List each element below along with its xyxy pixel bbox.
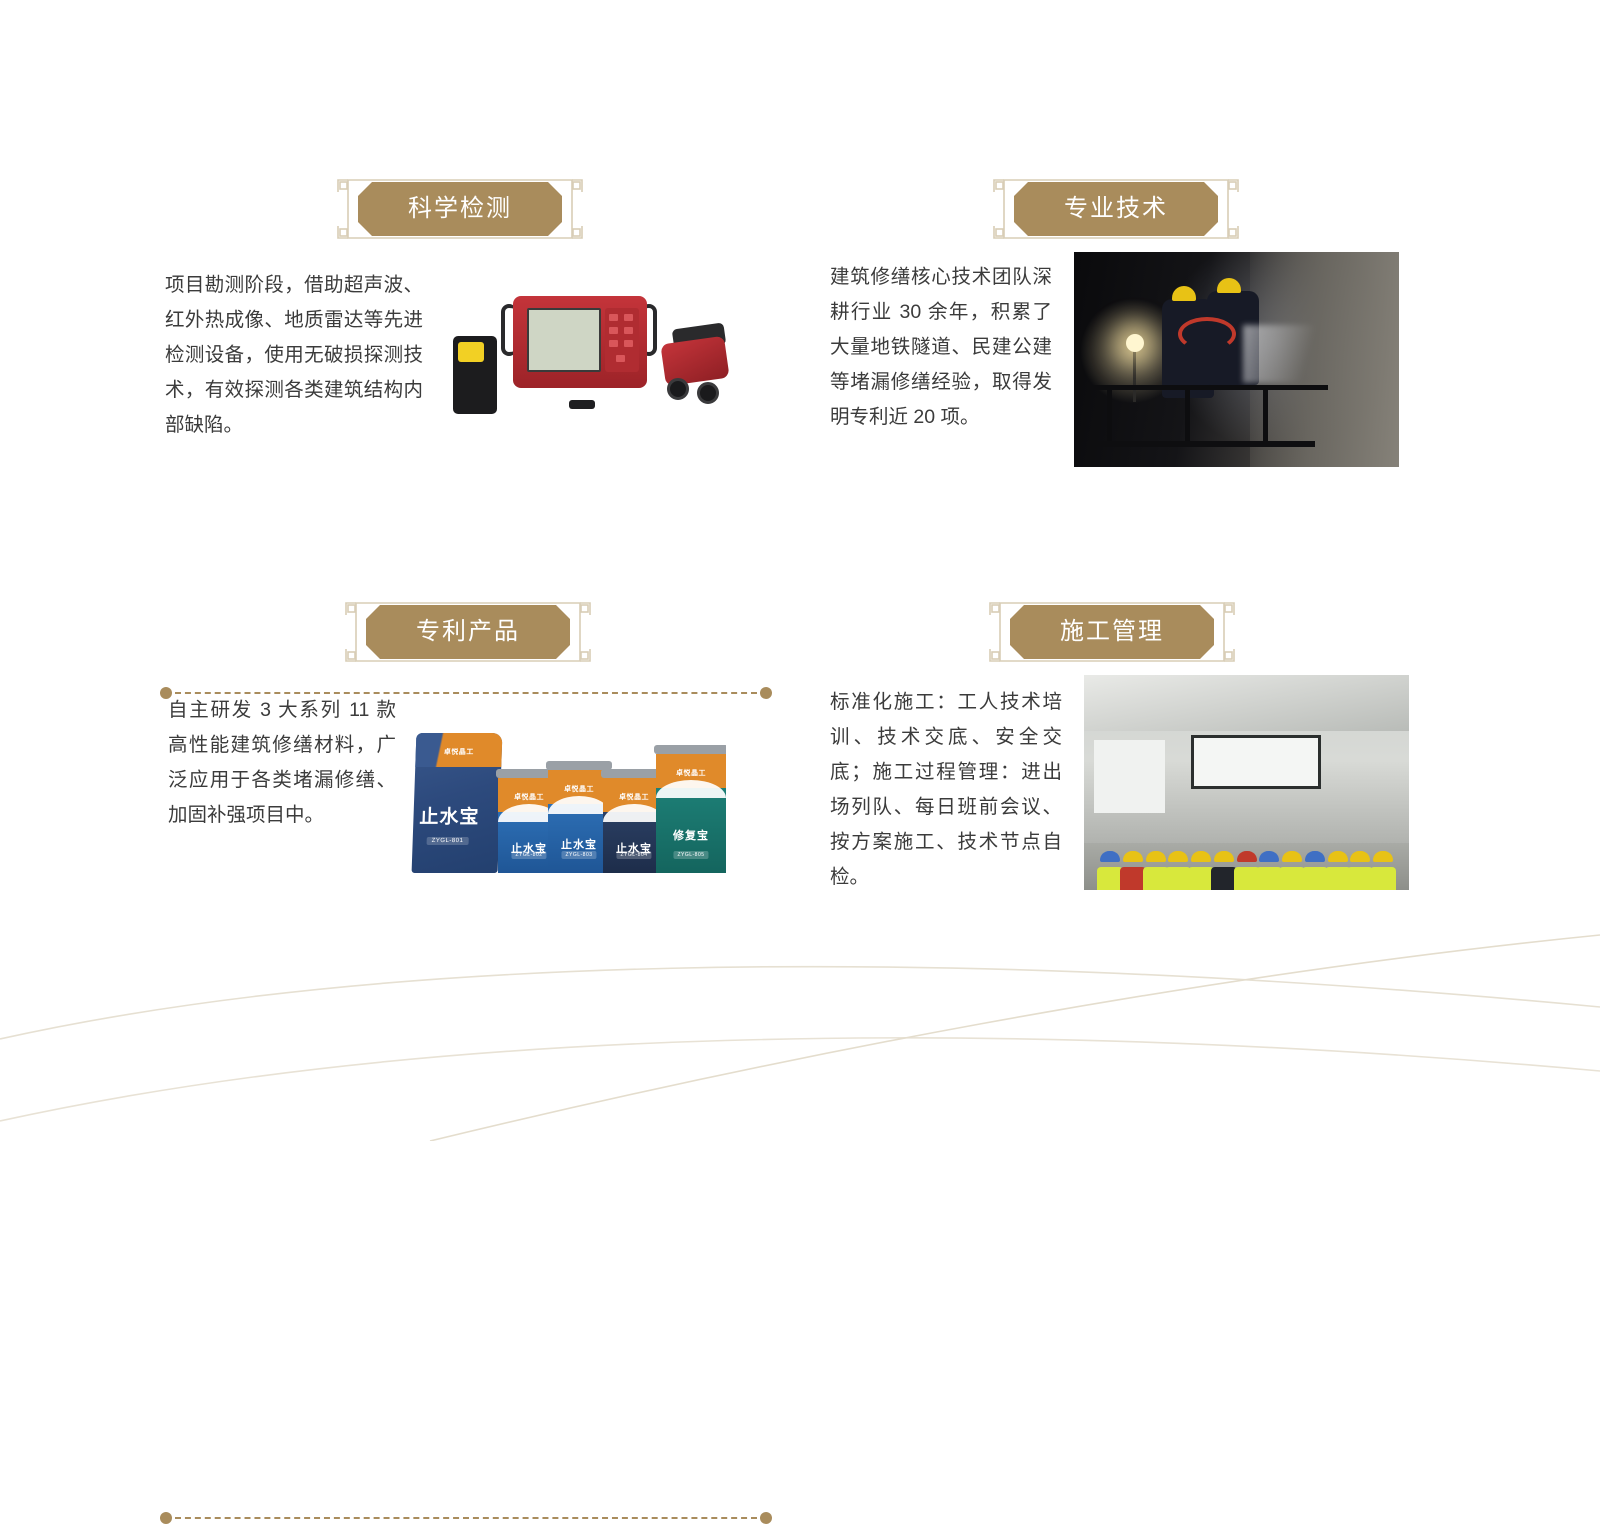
section-body-text: 标准化施工：工人技术培训、技术交底、安全交底；施工过程管理：进出场列队、每日班前… <box>830 685 1062 895</box>
detection-device-photo <box>441 278 741 458</box>
section-body-text: 自主研发 3 大系列 11 款高性能建筑修缮材料，广泛应用于各类堵漏修缮、加固补… <box>168 693 396 833</box>
product-code: ZYGL-803 <box>561 851 596 859</box>
badge-plaque: 专利产品 <box>366 605 570 659</box>
section-content: 建筑修缮核心技术团队深耕行业 30 余年，积累了大量地铁隧道、民建公建等堵漏修缮… <box>830 260 1450 467</box>
badge-plaque: 科学检测 <box>358 182 562 236</box>
section-patented-products: 专利产品 自主研发 3 大系列 11 款高性能建筑修缮材料，广泛应用于各类堵漏修… <box>0 575 800 975</box>
brand-label: 卓悦晶工 <box>514 792 544 802</box>
divider-dot-start <box>160 1512 172 1524</box>
spray-mist <box>1243 325 1333 383</box>
section-scientific-detection: 科学检测 项目勘测阶段，借助超声波、红外热成像、地质雷达等先进检测设备，使用无破… <box>0 150 800 550</box>
section-body-text: 项目勘测阶段，借助超声波、红外热成像、地质雷达等先进检测设备，使用无破损探测技术… <box>165 268 423 443</box>
badge-label: 专业技术 <box>1064 197 1168 221</box>
window-left <box>1094 740 1166 813</box>
page-root: 科学检测 项目勘测阶段，借助超声波、红外热成像、地质雷达等先进检测设备，使用无破… <box>0 0 1600 1141</box>
case-yellow-insert <box>458 342 484 362</box>
scaffold-rail-bottom <box>1087 441 1315 447</box>
ceiling <box>1084 675 1409 731</box>
brand-label: 卓悦晶工 <box>564 784 594 794</box>
section-grid: 科学检测 项目勘测阶段，借助超声波、红外热成像、地质雷达等先进检测设备，使用无破… <box>0 0 1600 1141</box>
product-code: ZYGL-802 <box>511 851 546 859</box>
hard-hat-left <box>1172 286 1196 301</box>
work-light-pole <box>1133 347 1136 403</box>
work-light <box>1126 334 1144 352</box>
brand-label: 卓悦晶工 <box>444 747 474 757</box>
pail-body: 修复宝 ZYGL-805 <box>656 788 726 873</box>
section-construction-management: 施工管理 标准化施工：工人技术培训、技术交底、安全交底；施工过程管理：进出场列队… <box>800 575 1600 975</box>
divider-patented-products <box>160 1512 772 1524</box>
product-pail: 卓悦晶工 止水宝 ZYGL-803 <box>548 761 610 873</box>
scanner-wheel-left <box>667 378 689 400</box>
pail-body: 止水宝 ZYGL-803 <box>548 804 610 873</box>
brand-label: 卓悦晶工 <box>619 792 649 802</box>
badge-plaque: 专业技术 <box>1014 182 1218 236</box>
badge-patented-products: 专利产品 <box>338 593 598 671</box>
badge-label: 施工管理 <box>1060 620 1164 644</box>
device-main-unit <box>513 296 647 388</box>
section-professional-technology: 专业技术 建筑修缮核心技术团队深耕行业 30 余年，积累了大量地铁隧道、民建公建… <box>800 150 1600 550</box>
device-keypad <box>605 308 639 372</box>
badge-scientific-detection: 科学检测 <box>330 170 590 248</box>
scanner-unit <box>660 336 729 386</box>
window-center <box>1191 735 1321 789</box>
device-carry-case <box>453 336 497 414</box>
product-label: 修复宝 <box>656 827 726 843</box>
product-bag: 卓悦晶工 止水宝 ZYGL-801 <box>412 733 503 873</box>
divider-dot-end <box>760 1512 772 1524</box>
badge-label: 科学检测 <box>408 197 512 221</box>
badge-plaque: 施工管理 <box>1010 605 1214 659</box>
section-content: 标准化施工：工人技术培训、技术交底、安全交底；施工过程管理：进出场列队、每日班前… <box>830 685 1450 895</box>
device-screen <box>527 308 601 372</box>
brand-label: 卓悦晶工 <box>676 768 706 778</box>
worker-lineup-photo <box>1084 675 1409 890</box>
badge-construction-management: 施工管理 <box>982 593 1242 671</box>
product-code: ZYGL-801 <box>427 837 469 845</box>
scaffold-rail-top <box>1087 385 1328 390</box>
scanner-wheel-right <box>697 382 719 404</box>
divider-dashes <box>175 1517 757 1519</box>
product-label: 止水宝 <box>419 802 480 829</box>
badge-label: 专利产品 <box>416 620 520 644</box>
product-pail: 卓悦晶工 修复宝 ZYGL-805 <box>656 745 726 873</box>
pail-lid <box>654 745 726 754</box>
product-label: 止水宝 <box>548 836 610 852</box>
section-content: 项目勘测阶段，借助超声波、红外热成像、地质雷达等先进检测设备，使用无破损探测技术… <box>165 268 765 458</box>
product-code: ZYGL-805 <box>673 851 708 859</box>
product-lineup-photo: 卓悦晶工 止水宝 ZYGL-801 卓悦晶工 止水宝 ZYGL-802 <box>406 723 726 873</box>
product-code: ZYGL-804 <box>616 851 651 859</box>
badge-professional-technology: 专业技术 <box>986 170 1246 248</box>
section-content: 自主研发 3 大系列 11 款高性能建筑修缮材料，广泛应用于各类堵漏修缮、加固补… <box>168 693 768 873</box>
device-usb-stick <box>569 400 595 409</box>
section-body-text: 建筑修缮核心技术团队深耕行业 30 余年，积累了大量地铁隧道、民建公建等堵漏修缮… <box>830 260 1052 435</box>
spray-hose <box>1178 317 1236 351</box>
tunnel-repair-photo <box>1074 252 1399 467</box>
